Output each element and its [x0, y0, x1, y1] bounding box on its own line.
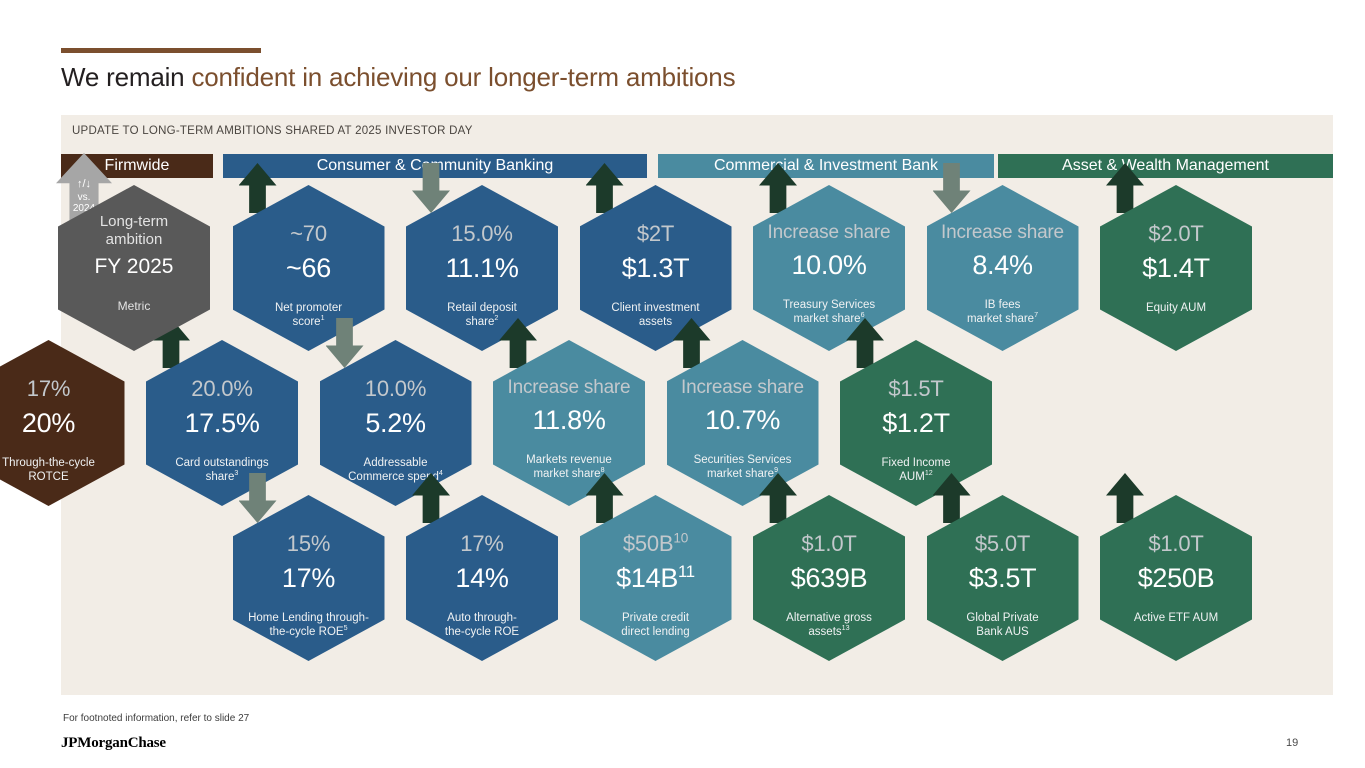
hex-actual-value: 14%: [455, 565, 508, 592]
hex-metric-label: IB feesmarket share7: [923, 298, 1083, 327]
hex-metric-label: Home Lending through-the-cycle ROE5: [229, 611, 389, 640]
hex-actual-value: 11.1%: [445, 255, 518, 282]
legend-metric-label: Metric: [118, 299, 151, 313]
footnote: For footnoted information, refer to slid…: [63, 713, 249, 724]
hex-metric-label: Client investmentassets: [576, 301, 736, 330]
hex-metric-label: Equity AUM: [1096, 301, 1256, 315]
hex-actual-value: ~66: [286, 255, 331, 282]
hex-metric-label: Active ETF AUM: [1096, 611, 1256, 625]
legend-ambition-label: Long-termambition: [100, 213, 168, 249]
hex-actual-value: $1.3T: [622, 255, 690, 282]
hex-actual-value: 8.4%: [972, 252, 1032, 279]
hex-metric-label: Alternative grossassets13: [749, 611, 909, 640]
brand-logo: JPMorganChase: [61, 735, 166, 752]
hex-target-value: 17%: [460, 533, 503, 555]
hex-actual-value: 10.0%: [791, 252, 866, 279]
hex-metric-label: Card outstandingsshare3: [142, 456, 302, 485]
page-title-tail: confident in achieving our longer-term a…: [191, 62, 735, 92]
hex-metric-label: AddressableCommerce spend4: [316, 456, 476, 485]
trend-arrow-up-icon: [1106, 473, 1144, 523]
legend-fiscal-year: FY 2025: [94, 256, 173, 277]
ambitions-panel: UPDATE TO LONG-TERM AMBITIONS SHARED AT …: [61, 115, 1333, 695]
hex-actual-value: $250B: [1138, 565, 1215, 592]
hex-target-value: Increase share: [941, 223, 1064, 242]
hex-actual-value: 17.5%: [184, 410, 259, 437]
hex-target-value: $2.0T: [1148, 223, 1203, 245]
hex-target-value: $1.0T: [1148, 533, 1203, 555]
hex-through-the-cycle-rotce[interactable]: 17%20%Through-the-cycleROTCE: [0, 340, 125, 506]
trend-arrow-up-icon: [586, 163, 624, 213]
hex-actual-value: $639B: [791, 565, 868, 592]
hex-target-value: Increase share: [681, 378, 804, 397]
hex-target-value: 15%: [287, 533, 330, 555]
hex-target-value: ~70: [290, 223, 327, 245]
trend-arrow-down-icon: [412, 163, 450, 213]
hex-metric-label: Treasury Servicesmarket share6: [749, 298, 909, 327]
title-accent-rule: [61, 48, 261, 53]
hex-actual-value: 10.7%: [705, 407, 780, 434]
hex-actual-value: $3.5T: [969, 565, 1037, 592]
hex-target-value: Increase share: [508, 378, 631, 397]
page-title: We remain confident in achieving our lon…: [61, 62, 735, 93]
hex-target-value: $5.0T: [975, 533, 1030, 555]
hex-target-value: 15.0%: [451, 223, 512, 245]
hex-metric-label: Private creditdirect lending: [576, 611, 736, 640]
hex-target-value: $1.5T: [888, 378, 943, 400]
hex-actual-value: 20%: [22, 410, 75, 437]
hex-target-value: Increase share: [768, 223, 891, 242]
hex-metric-label: Auto through-the-cycle ROE: [402, 611, 562, 640]
page-number: 19: [1286, 737, 1298, 749]
hex-target-value: $1.0T: [801, 533, 856, 555]
hex-target-value: 20.0%: [191, 378, 252, 400]
hex-metric-label: Markets revenuemarket share8: [489, 453, 649, 482]
trend-arrow-up-icon: [239, 163, 277, 213]
hex-target-value: $50B10: [623, 533, 688, 555]
hex-actual-value: $1.4T: [1142, 255, 1210, 282]
trend-arrow-up-icon: [1106, 163, 1144, 213]
hex-metric-label: Fixed IncomeAUM12: [836, 456, 996, 485]
hex-target-value: 17%: [27, 378, 70, 400]
hex-metric-label: Global PrivateBank AUS: [923, 611, 1083, 640]
trend-arrow-down-icon: [933, 163, 971, 213]
hex-metric-label: Through-the-cycleROTCE: [0, 456, 129, 485]
hex-target-value: $2T: [637, 223, 674, 245]
hex-actual-value: 17%: [282, 565, 335, 592]
page-title-lead: We remain: [61, 62, 191, 92]
trend-arrow-up-icon: [759, 163, 797, 213]
hex-metric-label: Net promoterscore1: [229, 301, 389, 330]
hex-target-value: 10.0%: [365, 378, 426, 400]
legend-arrow-symbol: ↑/↓: [77, 179, 91, 190]
hex-actual-value: $14B11: [616, 565, 695, 592]
hex-metric-label: Retail depositshare2: [402, 301, 562, 330]
hexagon-grid: ~70~66Net promoterscore115.0%11.1%Retail…: [61, 115, 1333, 695]
hex-actual-value: 5.2%: [365, 410, 425, 437]
hex-actual-value: $1.2T: [882, 410, 950, 437]
hex-actual-value: 11.8%: [532, 407, 605, 434]
hex-metric-label: Securities Servicesmarket share9: [663, 453, 823, 482]
